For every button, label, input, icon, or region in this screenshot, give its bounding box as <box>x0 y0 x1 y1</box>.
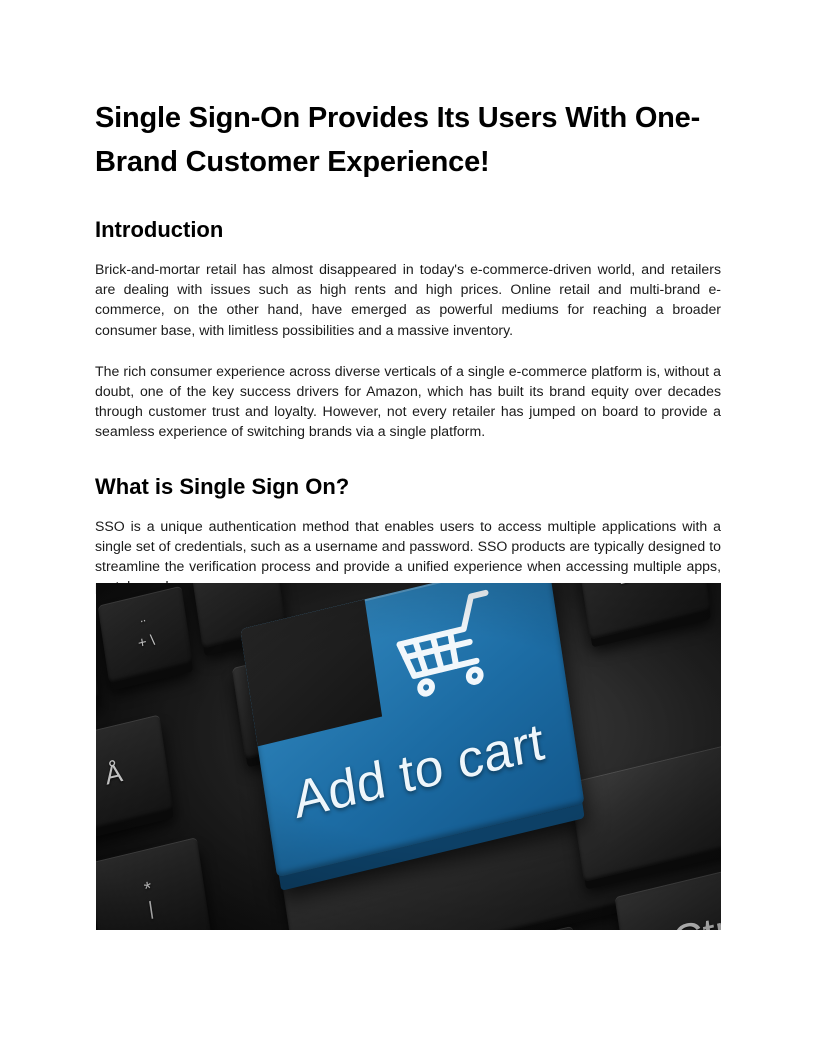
shopping-cart-icon <box>388 583 508 708</box>
paragraph-introduction-2: The rich consumer experience across dive… <box>95 361 721 442</box>
section-heading-introduction: Introduction <box>95 216 721 244</box>
add-to-cart-label: Add to cart <box>290 712 549 832</box>
section-heading-what-is-single-sign-on: What is Single Sign On? <box>95 473 721 501</box>
page-title: Single Sign-On Provides Its Users With O… <box>95 96 721 184</box>
key-delete: Delete <box>575 583 711 640</box>
key-a-ring: Å <box>96 714 173 835</box>
key-label-delete: Delete <box>618 583 668 588</box>
keyboard-key-plane: ¨ + \ Å ^ ¨ ~ * | <box>96 583 721 930</box>
document-content: Single Sign-On Provides Its Users With O… <box>95 96 721 596</box>
key-label-a-ring: Å <box>103 759 124 790</box>
key-label-asterisk-pipe: * | <box>143 879 156 920</box>
key-label-plus-backslash: ¨ + \ <box>135 617 156 652</box>
keyboard-surface: ¨ + \ Å ^ ¨ ~ * | <box>96 583 721 930</box>
key-blank-topleft-1 <box>96 621 99 719</box>
key-asterisk-pipe: * | <box>96 837 212 930</box>
keyboard-add-to-cart-image: ¨ + \ Å ^ ¨ ~ * | <box>96 583 721 930</box>
paragraph-introduction-1: Brick-and-mortar retail has almost disap… <box>95 259 721 340</box>
document-page: Single Sign-On Provides Its Users With O… <box>0 0 816 1056</box>
key-label-ctrl: Ctrl <box>669 905 721 930</box>
key-blank-topleft-2: ¨ + \ <box>98 586 193 684</box>
